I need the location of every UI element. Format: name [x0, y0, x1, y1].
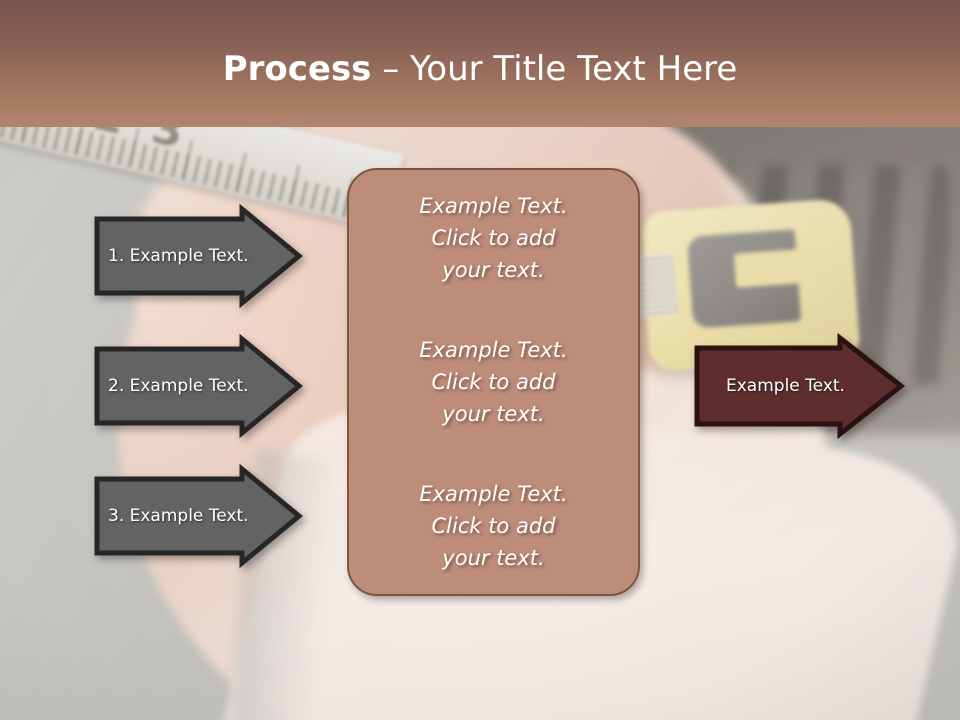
arrow-right-icon: [694, 334, 906, 438]
panel-text-block-2: Example Text. Click to add your text.: [349, 334, 638, 430]
page-title: Process – Your Title Text Here: [0, 48, 960, 90]
page-title-rest: – Your Title Text Here: [371, 49, 737, 89]
panel-block-1-line-3: your text.: [363, 254, 624, 286]
panel-block-2-line-3: your text.: [363, 398, 624, 430]
panel-block-3-line-3: your text.: [363, 542, 624, 574]
arrow-right-icon: [94, 466, 304, 566]
arrow-right-icon: [94, 206, 304, 306]
panel-block-1-line-1: Example Text.: [363, 190, 624, 222]
panel-block-1-line-2: Click to add: [363, 222, 624, 254]
center-text-panel[interactable]: Example Text. Click to add your text. Ex…: [347, 168, 640, 596]
panel-block-3-line-2: Click to add: [363, 510, 624, 542]
slide: 2 3 Process – Your Title Text Here 1. Ex…: [0, 0, 960, 720]
panel-block-2-line-2: Click to add: [363, 366, 624, 398]
process-arrow-3[interactable]: 3. Example Text.: [94, 466, 304, 566]
arrow-right-icon: [94, 336, 304, 436]
panel-text-block-3: Example Text. Click to add your text.: [349, 478, 638, 574]
page-title-strong: Process: [223, 49, 372, 89]
title-band: Process – Your Title Text Here: [0, 0, 960, 127]
process-arrow-1[interactable]: 1. Example Text.: [94, 206, 304, 306]
process-arrow-2[interactable]: 2. Example Text.: [94, 336, 304, 436]
panel-block-3-line-1: Example Text.: [363, 478, 624, 510]
panel-block-2-line-1: Example Text.: [363, 334, 624, 366]
panel-text-block-1: Example Text. Click to add your text.: [349, 190, 638, 286]
result-arrow[interactable]: Example Text.: [694, 334, 906, 438]
